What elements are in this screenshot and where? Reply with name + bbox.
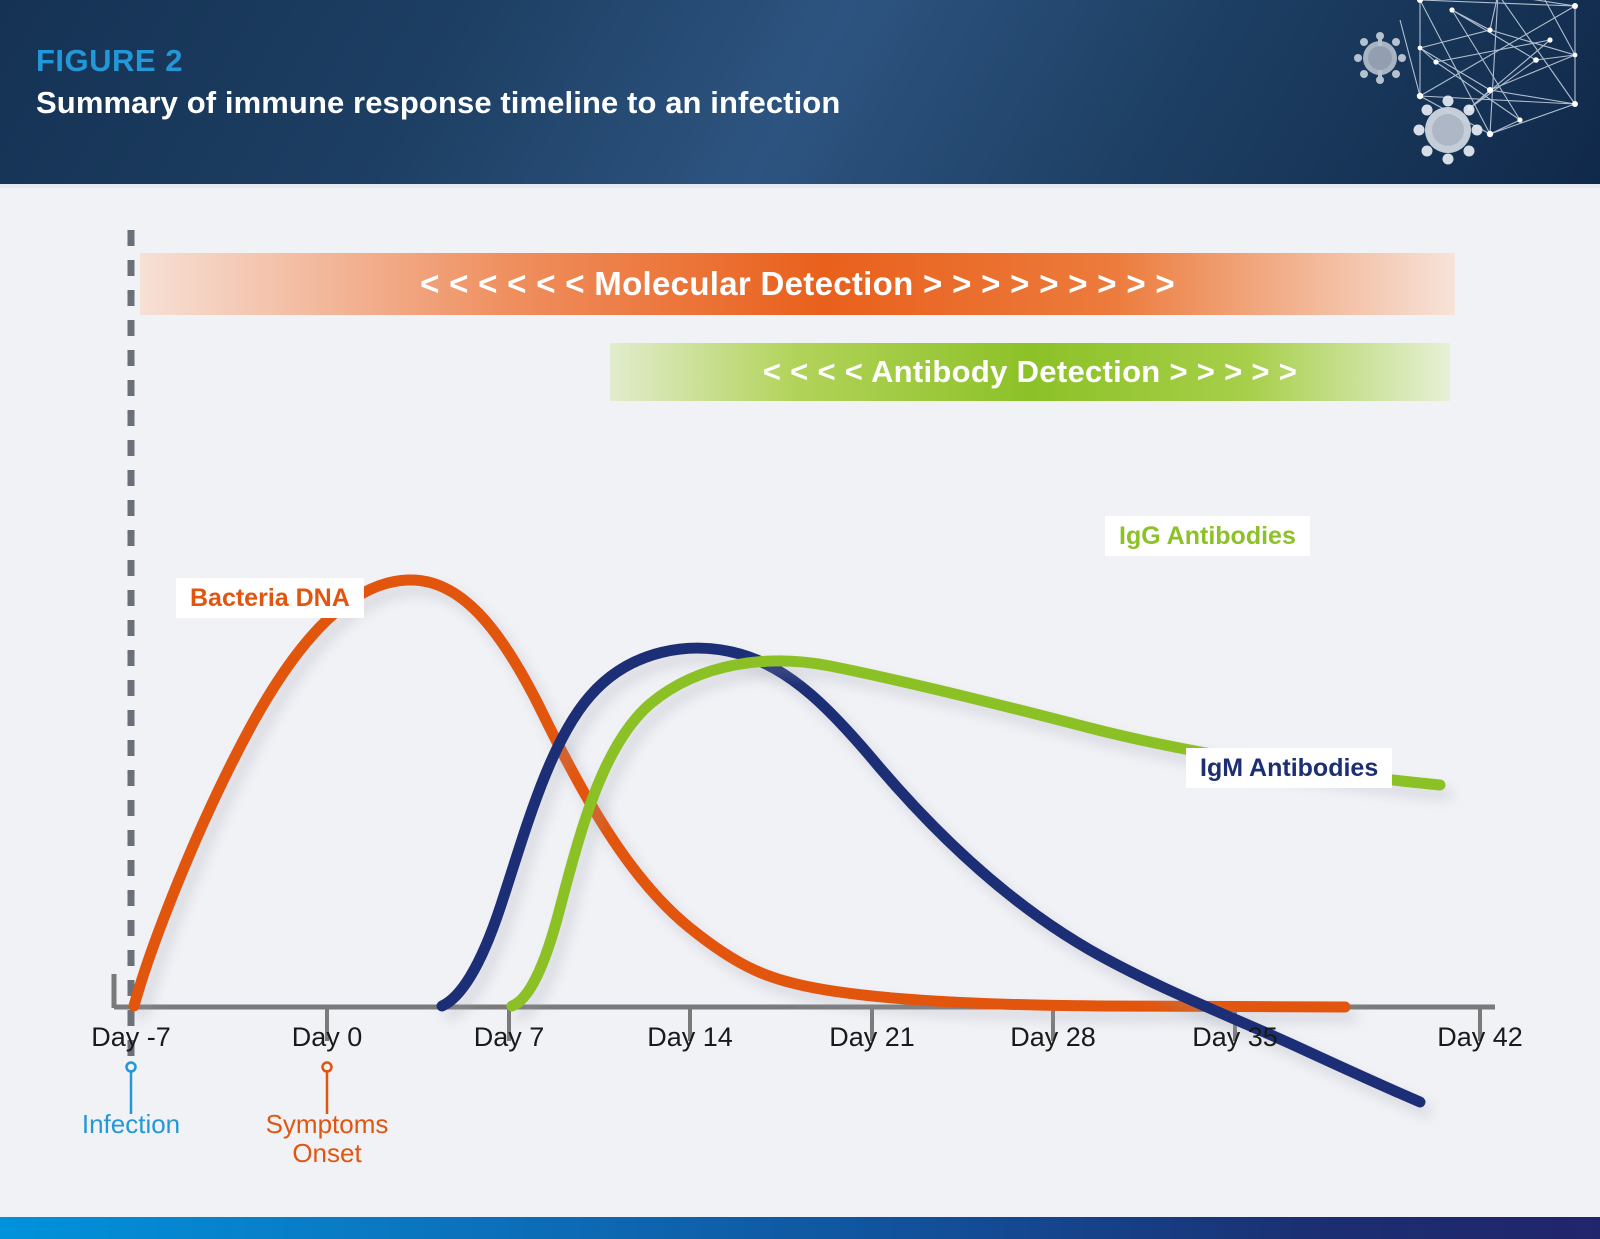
curve-label-bacteria-dna: Bacteria DNA [176,578,364,618]
curve-label-igg-antibodies: IgG Antibodies [1105,516,1310,556]
header-text-block: FIGURE 2 Summary of immune response time… [36,44,840,121]
tick-label-day-21: Day 21 [829,1022,915,1053]
tick-label-day-35: Day 35 [1192,1022,1278,1053]
immune-response-chart: < < < < < < Molecular Detection > > > > … [0,188,1600,1217]
annotation-symptoms-onset-line2: Onset [266,1139,389,1168]
curve-label-igm-antibodies: IgM Antibodies [1186,748,1392,788]
annotation-symptoms-onset-line1: Symptoms [266,1110,389,1139]
tick-label-day-28: Day 28 [1010,1022,1096,1053]
tick-label-day-14: Day 14 [647,1022,733,1053]
igg-antibodies-curve [512,661,1440,1006]
annotation-leaders [127,1063,332,1115]
band-molecular-detection: < < < < < < Molecular Detection > > > > … [140,253,1455,315]
tick-label-day-0: Day 0 [292,1022,363,1053]
virus-network-illustration-icon [1340,0,1600,184]
bacteria-dna-curve [134,580,1345,1007]
figure-header: FIGURE 2 Summary of immune response time… [0,0,1600,184]
annotation-symptoms-onset: Symptoms Onset [266,1110,389,1168]
annotation-infection: Infection [82,1110,180,1139]
tick-label-day-7: Day 7 [474,1022,545,1053]
tick-label-day-42: Day 42 [1437,1022,1523,1053]
footer-accent-bar [0,1217,1600,1239]
band-antibody-detection: < < < < Antibody Detection > > > > > [610,343,1450,401]
tick-label-day--7: Day -7 [91,1022,171,1053]
page-title: Summary of immune response timeline to a… [36,84,840,121]
figure-kicker: FIGURE 2 [36,44,840,78]
